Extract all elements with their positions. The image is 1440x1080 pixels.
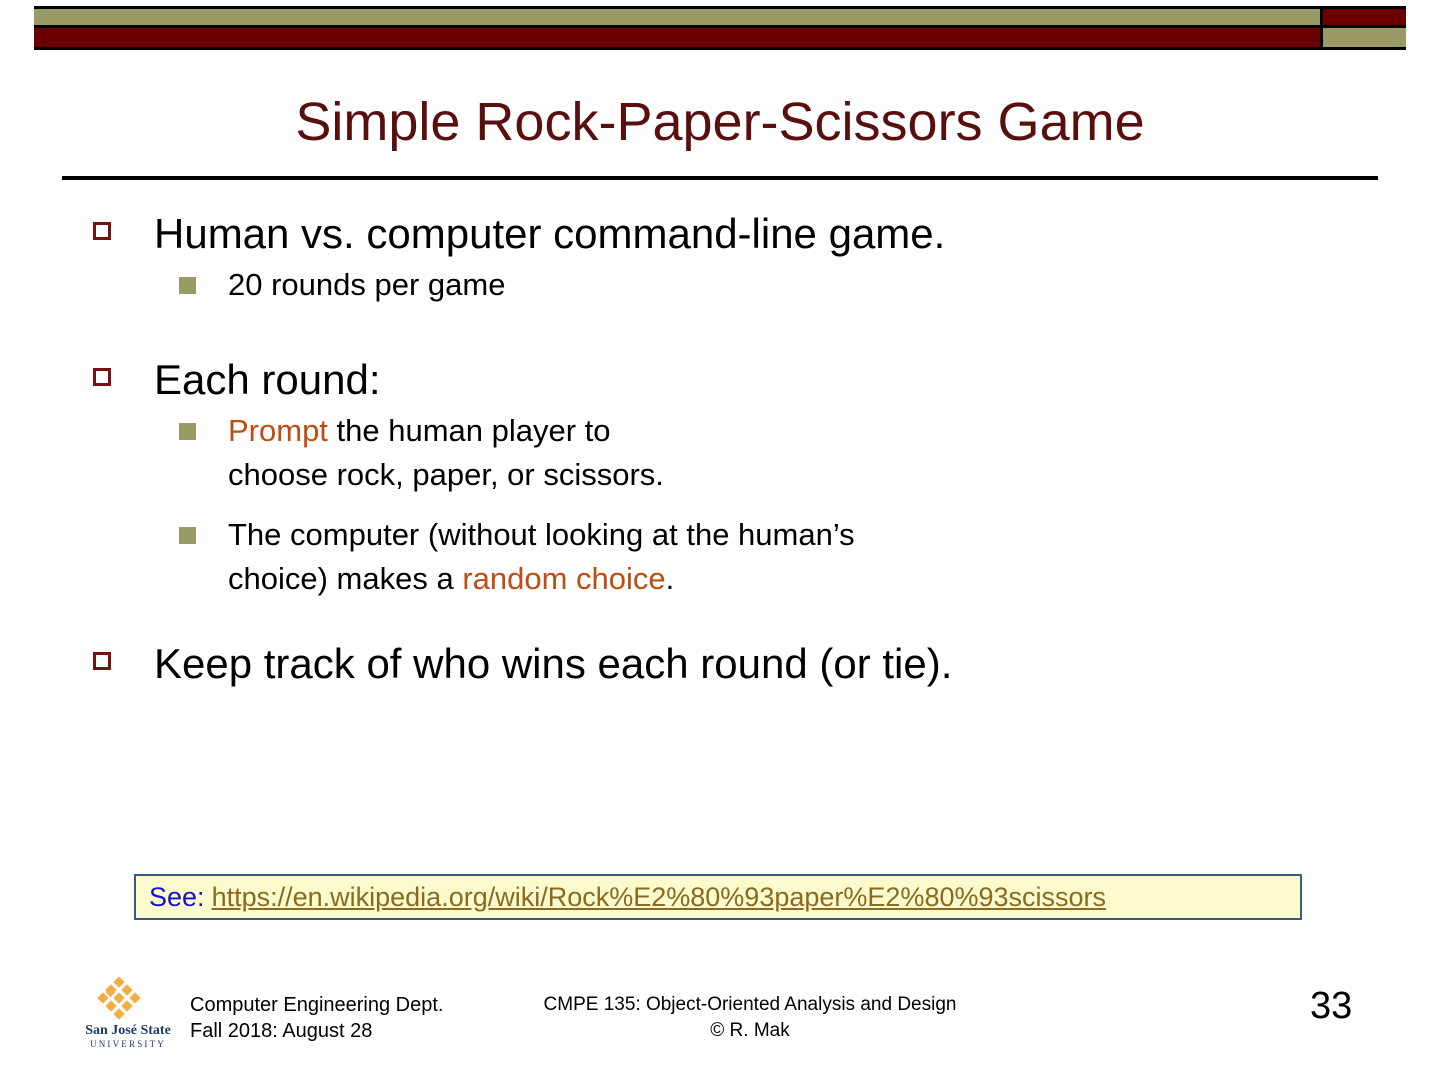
accent-word-prompt: Prompt [228,413,328,448]
footer-department: Computer Engineering Dept. [190,992,443,1018]
banner-rule-bottom [34,47,1406,50]
banner-segment-darkred-top [1320,6,1406,26]
banner-row-bottom [34,28,1406,48]
spacer [62,601,1382,635]
bullet-text-line1: The computer (without looking at the hum… [228,517,855,552]
sjsu-university-text: UNIVERSITY [80,1039,176,1049]
slide-canvas: Simple Rock-Paper-Scissors Game Human vs… [0,0,1440,1080]
reference-link-callout[interactable]: See: https://en.wikipedia.org/wiki/Rock%… [134,874,1302,920]
bullet-level2-computer-random-choice: The computer (without looking at the hum… [62,513,1382,601]
bullet-level1-keep-track: Keep track of who wins each round (or ti… [62,635,1382,693]
banner-rule-middle [34,25,1406,28]
hollow-square-bullet-icon [93,222,111,240]
footer-left: Computer Engineering Dept. Fall 2018: Au… [190,992,443,1044]
see-label: See [149,882,197,913]
wikipedia-link[interactable]: https://en.wikipedia.org/wiki/Rock%E2%80… [212,882,1106,913]
banner-segment-darkred-bottom [34,28,1320,48]
banner-divider [1320,6,1323,50]
banner-segment-olive-top [34,6,1320,26]
title-underline-rule [62,176,1378,180]
bullet-level2-rounds-per-game: 20 rounds per game [62,263,1382,307]
bullet-level1-human-vs-computer: Human vs. computer command-line game. [62,205,1382,263]
footer-term-date: Fall 2018: August 28 [190,1018,443,1044]
banner-segment-olive-bottom [1320,28,1406,48]
page-number: 33 [1310,985,1352,1028]
sjsu-diamond-icon [94,977,144,1027]
sjsu-logo: San José State UNIVERSITY [80,977,176,1049]
sjsu-wordmark: San José State [80,1023,176,1039]
accent-phrase-random-choice: random choice [462,561,665,596]
filled-square-bullet-icon [179,423,196,440]
banner-rule-top [34,6,1406,9]
spacer [62,497,1382,513]
bullet-text: Keep track of who wins each round (or ti… [154,640,952,687]
spacer [62,307,1382,351]
bullet-level1-each-round: Each round: [62,351,1382,409]
bullet-text: 20 rounds per game [228,267,505,302]
bullet-text: Each round: [154,356,381,403]
filled-square-bullet-icon [179,527,196,544]
banner-row-top [34,6,1406,26]
hollow-square-bullet-icon [93,368,111,386]
footer-center: CMPE 135: Object-Oriented Analysis and D… [420,992,1080,1044]
filled-square-bullet-icon [179,277,196,294]
see-colon: : [197,882,205,913]
bullet-text-line2-pre: choice) makes a [228,561,462,596]
footer-copyright: © R. Mak [420,1018,1080,1044]
bullet-level2-prompt-player: Prompt the human player to choose rock, … [62,409,1382,497]
slide-title: Simple Rock-Paper-Scissors Game [62,90,1378,154]
bullet-text-line2: choose rock, paper, or scissors. [228,457,664,492]
slide-body: Human vs. computer command-line game. 20… [62,205,1382,693]
header-banner [34,6,1406,50]
bullet-text: the human player to [328,413,611,448]
footer-course: CMPE 135: Object-Oriented Analysis and D… [420,992,1080,1018]
hollow-square-bullet-icon [93,652,111,670]
bullet-text: Human vs. computer command-line game. [154,210,945,257]
bullet-text-line2-post: . [666,561,675,596]
